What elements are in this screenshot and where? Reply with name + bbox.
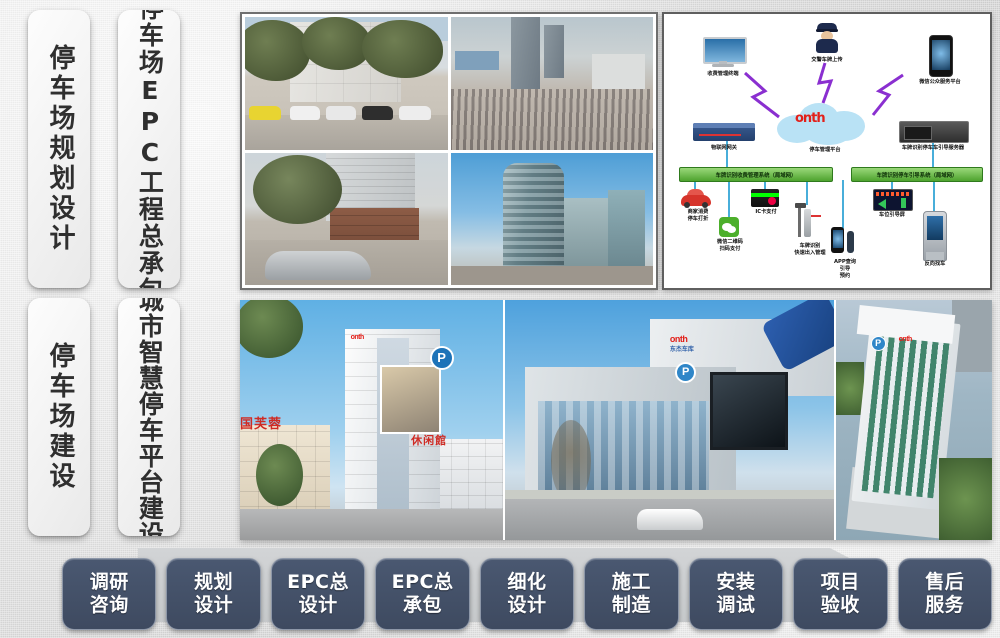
shop-sign-right: 休闲館 xyxy=(411,432,447,448)
app-query-guidance-booking-label: APP查询 引导 预约 xyxy=(819,259,871,280)
car xyxy=(637,509,703,531)
step-line-2: 咨询 xyxy=(90,594,129,617)
service-card-label: 停车场EPC工程总承包 xyxy=(135,10,164,288)
step-line-1: EPC总 xyxy=(392,571,454,594)
tower xyxy=(544,25,564,78)
tree-icon xyxy=(240,300,303,358)
guidance-server-label: 车牌识别停车车引导服务器 xyxy=(881,145,985,152)
photo-surface-parking-lot-trees xyxy=(245,17,448,150)
step-line-1: EPC总 xyxy=(287,571,349,594)
step-line-2: 调试 xyxy=(716,594,755,617)
step-line-2: 设计 xyxy=(507,594,546,617)
onth-logo: onth东杰车库 xyxy=(670,334,694,353)
red-car-icon xyxy=(681,189,711,207)
photo-parking-lot-brick-building xyxy=(245,153,448,286)
shop-sign-left: 国芙蓉 xyxy=(240,413,282,432)
rendering-aerial-tower: onth P xyxy=(836,300,992,540)
street xyxy=(451,266,654,285)
step-line-1: 安装 xyxy=(716,571,755,594)
step-line-2: 服务 xyxy=(925,594,964,617)
billboard xyxy=(380,365,442,434)
plate-recognition-charging-system-bar: 车牌识别收费管理系统（局域网） xyxy=(679,167,833,182)
step-line-1: 施工 xyxy=(612,571,651,594)
cloud-platform-label: 停车管理平台 xyxy=(785,147,865,154)
parking-badge: P xyxy=(430,346,454,370)
tower xyxy=(511,17,539,89)
cloud-platform-icon: onth xyxy=(777,103,873,145)
onth-logo: onth xyxy=(351,334,364,341)
barrier-gate-icon xyxy=(795,203,821,239)
step-line-1: 调研 xyxy=(90,571,129,594)
car xyxy=(249,106,281,121)
server-icon xyxy=(899,121,969,143)
service-card-parking-planning-design[interactable]: 停车场规划设计 xyxy=(28,10,90,288)
rendering-parking-tower: onth P 国芙蓉 休闲館 xyxy=(240,300,503,540)
kiosk-icon xyxy=(923,211,947,261)
street xyxy=(240,509,503,540)
step-project-acceptance[interactable]: 项目 验收 xyxy=(793,558,887,630)
low-rise-building xyxy=(592,54,645,88)
step-epc-contracting[interactable]: EPC总 承包 xyxy=(375,558,469,630)
step-after-sales-service[interactable]: 售后 服务 xyxy=(898,558,992,630)
parking-badge: P xyxy=(871,336,886,351)
police-officer-icon xyxy=(815,23,839,53)
photo-glass-office-tower xyxy=(451,153,654,286)
reverse-car-finding-label: 反向找车 xyxy=(911,261,959,268)
parking-lot xyxy=(451,89,654,150)
system-bar-label: 车牌识别收费管理系统（局域网） xyxy=(716,171,797,179)
process-step-list: 调研 咨询 规划 设计 EPC总 设计 EPC总 承包 细化 设计 施工 制造 … xyxy=(62,558,992,630)
step-planning-design[interactable]: 规划 设计 xyxy=(166,558,260,630)
plate-recognition-guidance-system-bar: 车牌识别停车引导系统（局域网） xyxy=(851,167,983,182)
step-line-1: 细化 xyxy=(507,571,546,594)
merchant-parking-discount-label: 商家消费 停车打折 xyxy=(671,209,725,223)
step-line-1: 售后 xyxy=(925,571,964,594)
smart-parking-system-diagram: 收费管理终端 交警车牌上传 微信公众服务平台 onth 停车管理平台 物联网网关… xyxy=(662,12,992,290)
step-line-1: 规划 xyxy=(194,571,233,594)
tree-icon xyxy=(362,20,443,78)
onth-logo: onth xyxy=(899,336,912,343)
wechat-qr-payment-label: 微信二维码 扫码支付 xyxy=(701,239,759,253)
system-bar-label: 车牌识别停车引导系统（局域网） xyxy=(877,171,958,179)
tree-icon xyxy=(253,155,342,224)
warehouse-roof xyxy=(455,51,500,70)
ic-card-payment-label: IC卡支付 xyxy=(743,209,789,216)
ic-card-icon xyxy=(751,189,779,207)
step-detailed-design[interactable]: 细化 设计 xyxy=(480,558,574,630)
led-guidance-screen-icon xyxy=(873,189,913,211)
step-line-2: 制造 xyxy=(612,594,651,617)
step-line-2: 设计 xyxy=(194,594,233,617)
iot-gateway-label: 物联网网关 xyxy=(689,145,759,152)
car xyxy=(362,106,392,121)
rendering-modern-garage: onth东杰车库 P xyxy=(505,300,834,540)
router-icon xyxy=(693,123,755,141)
smartphone-icon xyxy=(929,35,953,77)
adjacent-building xyxy=(564,198,609,270)
car xyxy=(399,106,431,121)
glass-tower xyxy=(503,163,564,269)
onth-logo-sub: 东杰车库 xyxy=(670,344,694,353)
onth-logo: onth xyxy=(795,111,825,126)
photo-aerial-city-parking-view xyxy=(451,17,654,150)
step-construction-manufacturing[interactable]: 施工 制造 xyxy=(584,558,678,630)
step-line-1: 项目 xyxy=(821,571,860,594)
step-line-2: 设计 xyxy=(299,594,338,617)
service-card-label: 城市智慧停车平台建设 xyxy=(135,298,164,536)
service-card-label: 停车场建设 xyxy=(44,342,74,492)
project-photo-collage xyxy=(240,12,658,290)
ground xyxy=(245,115,448,149)
service-card-label: 停车场规划设计 xyxy=(44,44,74,254)
wechat-icon xyxy=(719,217,739,237)
project-renderings: onth P 国芙蓉 休闲館 onth东杰车库 P onth P xyxy=(240,300,992,540)
service-card-smart-city-parking-platform[interactable]: 城市智慧停车平台建设 xyxy=(118,298,180,536)
service-card-parking-epc-contracting[interactable]: 停车场EPC工程总承包 xyxy=(118,10,180,288)
car xyxy=(290,106,320,121)
car xyxy=(265,251,370,280)
step-installation-commissioning[interactable]: 安装 调试 xyxy=(689,558,783,630)
desktop-monitor-icon xyxy=(703,37,743,67)
landscaping xyxy=(939,458,992,540)
wechat-public-service-platform-label: 微信公众服务平台 xyxy=(895,79,985,86)
charging-management-terminal-label: 收费管理终端 xyxy=(683,71,763,78)
step-line-2: 承包 xyxy=(403,594,442,617)
traffic-police-plate-upload-label: 交警车牌上传 xyxy=(787,57,867,64)
car xyxy=(326,106,356,121)
led-billboard xyxy=(710,372,788,450)
adjacent-building xyxy=(608,190,644,270)
parking-space-guidance-screen-label: 车位引导屏 xyxy=(867,212,917,219)
service-card-parking-construction[interactable]: 停车场建设 xyxy=(28,298,90,536)
step-epc-design[interactable]: EPC总 设计 xyxy=(271,558,365,630)
step-line-2: 验收 xyxy=(821,594,860,617)
mobile-app-icon xyxy=(831,227,857,257)
step-research-consulting[interactable]: 调研 咨询 xyxy=(62,558,156,630)
